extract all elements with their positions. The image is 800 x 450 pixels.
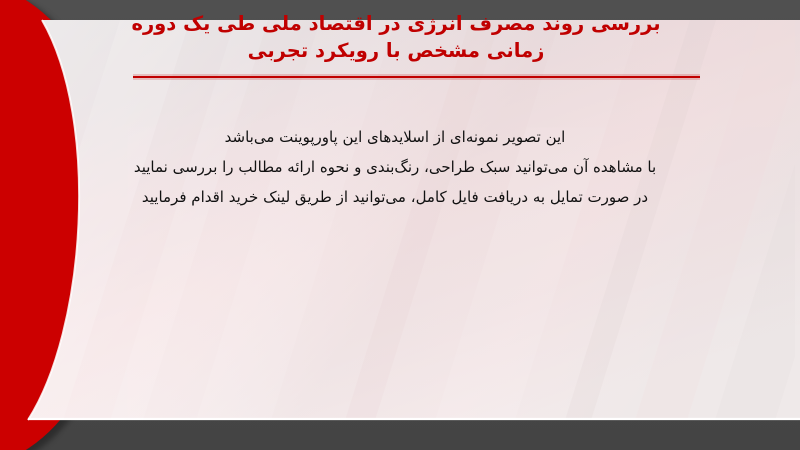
presentation-slide: بررسی روند مصرف انرژی در اقتصاد ملی طی ی… xyxy=(0,0,800,450)
content-panel xyxy=(0,0,800,450)
